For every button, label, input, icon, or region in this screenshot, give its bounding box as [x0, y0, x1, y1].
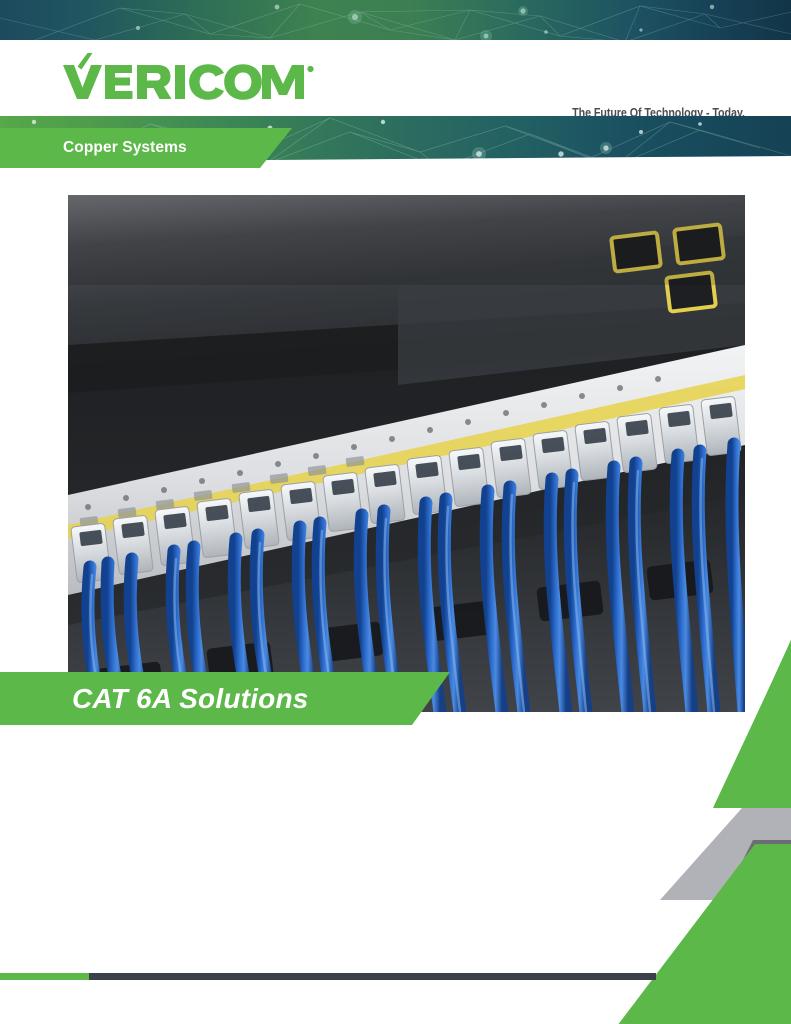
footer-rule-dark	[89, 973, 656, 980]
category-tab-label: Copper Systems	[63, 139, 187, 157]
hero-image	[68, 195, 745, 712]
logo-bar: The Future Of Technology - Today.	[0, 40, 791, 116]
title-banner: CAT 6A Solutions	[0, 672, 450, 725]
vericom-wordmark-tail-icon	[262, 53, 318, 101]
page-title: CAT 6A Solutions	[72, 683, 309, 715]
category-tab-copper-systems[interactable]: Copper Systems	[0, 128, 292, 168]
dark-gray-band	[660, 840, 791, 1024]
footer-rule-green	[0, 973, 91, 980]
vericom-wordmark-icon	[63, 53, 263, 101]
green-diagonal-band	[617, 844, 791, 1024]
vericom-logo[interactable]	[63, 53, 318, 101]
network-pattern-top	[0, 0, 791, 40]
brochure-cover-page: The Future Of Technology - Today.	[0, 0, 791, 1024]
patch-panel-photo-illustration	[68, 195, 745, 712]
light-gray-shape	[660, 808, 791, 900]
top-network-band	[0, 0, 791, 40]
